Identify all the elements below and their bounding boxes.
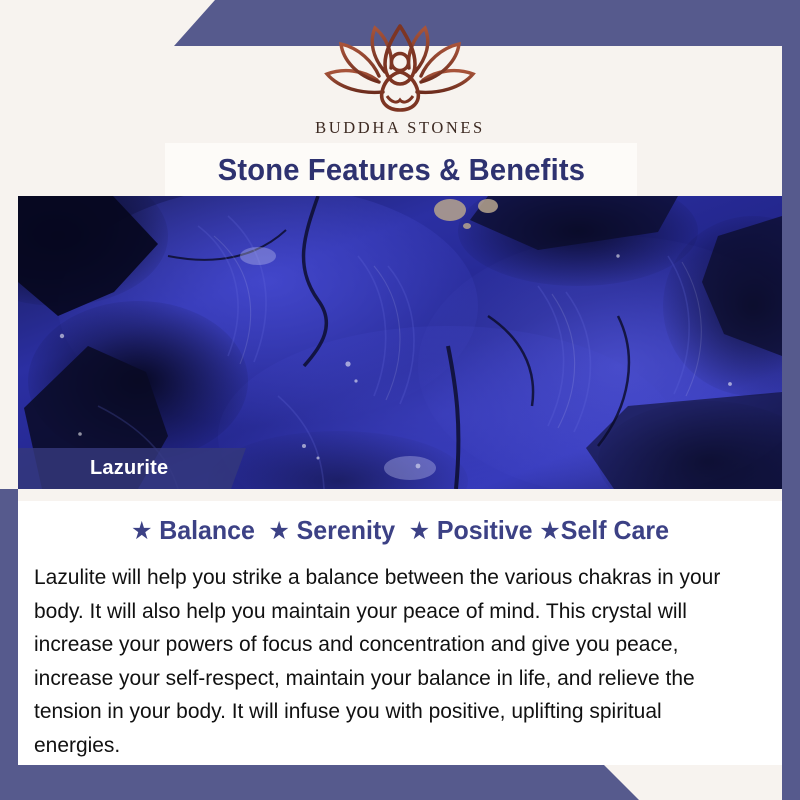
benefits-list: ★Balance★Serenity★Positive★Self Care — [33, 515, 766, 546]
page-title: Stone Features & Benefits — [217, 152, 584, 188]
lazurite-rock-illustration — [18, 196, 782, 489]
stone-name-banner: Lazurite — [18, 448, 246, 489]
brand-logo: BUDDHA STONES — [0, 22, 800, 138]
brand-name: BUDDHA STONES — [315, 118, 485, 138]
benefit-item-positive: Positive — [437, 515, 533, 545]
title-banner: Stone Features & Benefits — [165, 143, 637, 196]
stone-description: Lazulite will help you strike a balance … — [34, 561, 744, 762]
infographic-card: BUDDHA STONES Stone Features & Benefits — [0, 0, 800, 800]
benefit-item-self-care: Self Care — [561, 515, 669, 545]
benefit-item-balance: Balance — [159, 515, 255, 545]
benefit-item-serenity: Serenity — [297, 515, 396, 545]
star-icon-4: ★ — [539, 517, 561, 545]
stone-photo — [18, 196, 782, 489]
star-icon-2: ★ — [268, 517, 290, 545]
content-panel: ★Balance★Serenity★Positive★Self Care Laz… — [18, 489, 782, 765]
frame-left-bar — [0, 489, 18, 800]
lotus-meditation-figure-icon — [305, 22, 495, 114]
content-top-strip — [18, 489, 782, 501]
star-icon-3: ★ — [409, 517, 431, 545]
star-icon-1: ★ — [131, 517, 153, 545]
stone-name: Lazurite — [90, 457, 168, 480]
frame-bottom-bar — [0, 765, 800, 800]
